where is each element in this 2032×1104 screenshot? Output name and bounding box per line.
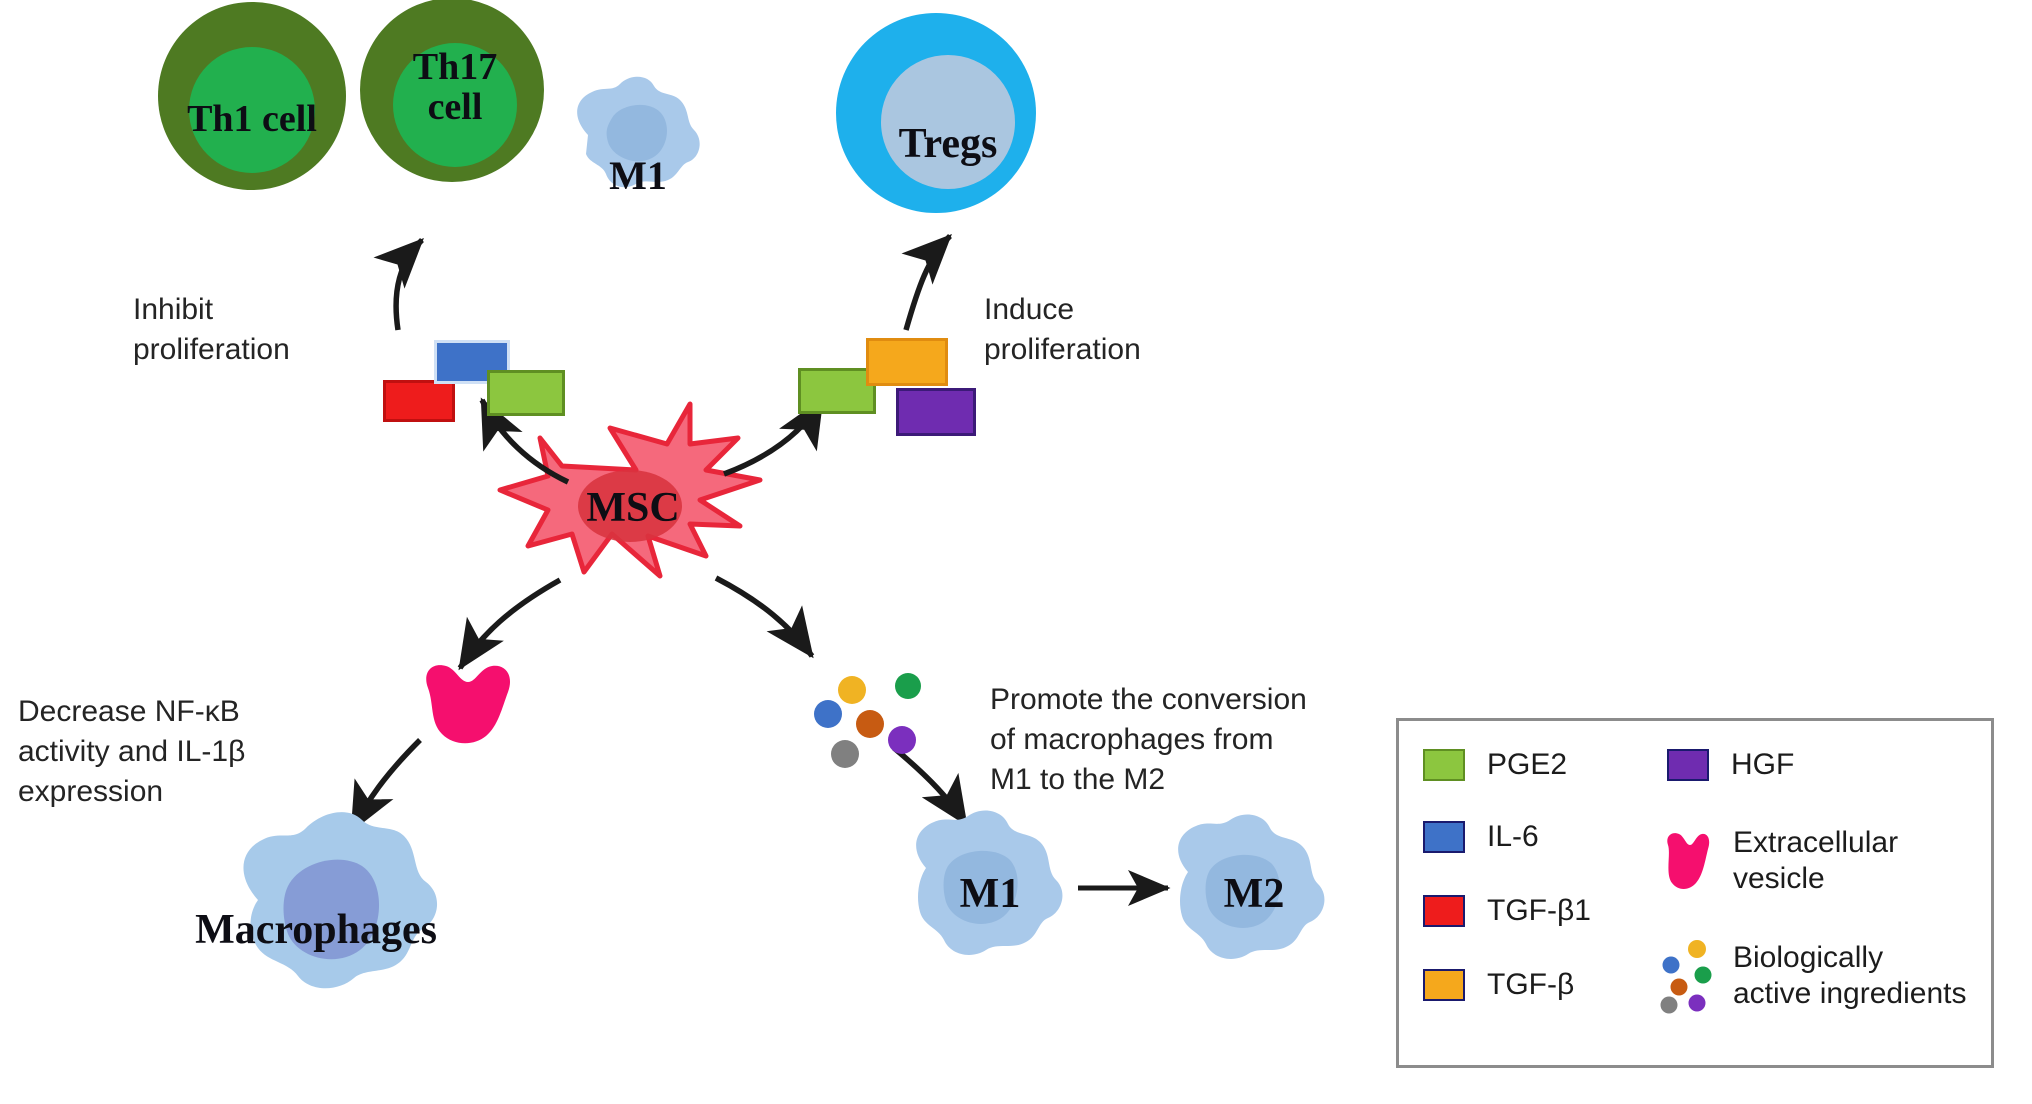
dot-green [895, 673, 921, 699]
legend-swatch-hgf-icon [1667, 749, 1709, 781]
marker-hgf-right [896, 388, 976, 436]
tregs-cell-label: Tregs [858, 122, 1038, 166]
legend-label-il6: IL-6 [1487, 819, 1539, 855]
macrophages-cell [243, 812, 437, 988]
arrow-msc-to-vesicle [460, 580, 560, 668]
legend-swatch-tgf-beta-icon [1423, 969, 1465, 1001]
marker-pge2-right [798, 368, 876, 414]
dot-purple [888, 726, 916, 754]
legend-vesicle-icon [1661, 829, 1711, 893]
arrow-vesicle-to-macrophages [352, 740, 420, 830]
legend-swatch-pge2-icon [1423, 749, 1465, 781]
marker-tgf-beta1-left [383, 380, 455, 422]
legend-item-il6: IL-6 [1423, 819, 1539, 855]
dot-blue [814, 700, 842, 728]
m2-label: M2 [1194, 872, 1314, 916]
dot-gray [831, 740, 859, 768]
annotation-decrease-nfkb: Decrease NF-κB activity and IL-1β expres… [18, 692, 338, 812]
legend-label-tgf-beta1: TGF-β1 [1487, 893, 1591, 929]
th1-cell [158, 2, 346, 190]
legend-item-tgf-beta: TGF-β [1423, 967, 1574, 1003]
annotation-inhibit-proliferation: Inhibit proliferation [133, 290, 393, 370]
legend-swatch-tgf-beta1-icon [1423, 895, 1465, 927]
annotation-promote-conversion: Promote the conversion of macrophages fr… [990, 680, 1370, 800]
legend-item-extracellular-vesicle: Extracellular vesicle [1661, 825, 1898, 897]
th17-cell-label: Th17 cell [380, 48, 530, 128]
legend-label-pge2: PGE2 [1487, 747, 1567, 783]
arrow-cytokines-to-tregs [906, 236, 950, 330]
legend-label-active-ingredients: Biologically active ingredients [1733, 940, 1966, 1012]
legend-label-extracellular-vesicle: Extracellular vesicle [1733, 825, 1898, 897]
arrow-msc-to-ingredients [716, 578, 812, 656]
dot-orange [856, 710, 884, 738]
m1-bottom-label: M1 [930, 872, 1050, 916]
legend-item-active-ingredients: Biologically active ingredients [1657, 933, 1966, 1019]
m1-top-label: M1 [578, 155, 698, 197]
annotation-induce-proliferation: Induce proliferation [984, 290, 1264, 370]
th1-cell-label: Th1 cell [162, 100, 342, 140]
legend-box: PGE2 IL-6 TGF-β1 TGF-β HGF Extracellular… [1396, 718, 1994, 1068]
arrow-cytokines-to-th17 [396, 240, 422, 330]
marker-pge2-left [487, 370, 565, 416]
extracellular-vesicle [426, 665, 510, 743]
legend-label-hgf: HGF [1731, 747, 1794, 783]
marker-tgf-beta-right [866, 338, 948, 386]
tregs-cell [836, 13, 1036, 213]
legend-label-tgf-beta: TGF-β [1487, 967, 1574, 1003]
dot-yellow [838, 676, 866, 704]
legend-swatch-il6-icon [1423, 821, 1465, 853]
arrow-ingredients-to-m1 [894, 748, 966, 824]
legend-item-pge2: PGE2 [1423, 747, 1567, 783]
legend-active-ingredients-dots-icon [1657, 933, 1719, 1019]
macrophages-cell-label: Macrophages [166, 908, 466, 952]
legend-item-tgf-beta1: TGF-β1 [1423, 893, 1591, 929]
msc-cell-label: MSC [548, 486, 718, 530]
legend-item-hgf: HGF [1667, 747, 1794, 783]
